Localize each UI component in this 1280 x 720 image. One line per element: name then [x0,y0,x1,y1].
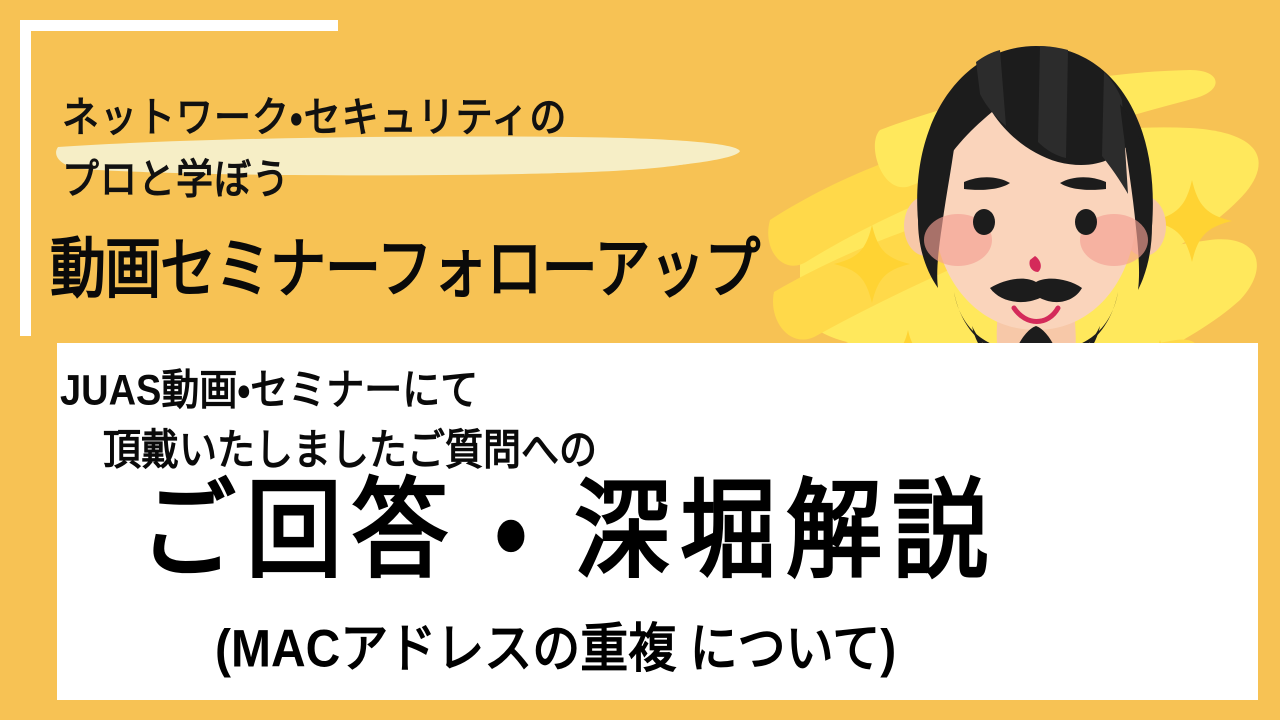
headline-subtitle: (MACアドレスの重複 について) [215,605,896,682]
tagline: ネットワーク・セキュリティの プロと学ぼう [62,88,567,211]
band-heading: 動画セミナーフォローアップ [50,236,759,302]
panel-intro-line-1: JUAS動画・セミナーにて [60,355,478,417]
corner-frame-top-bar [20,20,338,31]
seminar-title-slide: ネットワーク・セキュリティの プロと学ぼう 動画セミナーフォローアップ JUAS… [0,0,1280,720]
main-headline: ご回答 ・ 深堀解説 [140,478,998,586]
tagline-line-2: プロと学ぼう [62,149,567,210]
panel-intro-line-2: 頂戴いたしましたご質問への [103,415,597,477]
corner-frame-left-bar [20,20,31,336]
tagline-line-1: ネットワーク・セキュリティの [62,88,567,149]
